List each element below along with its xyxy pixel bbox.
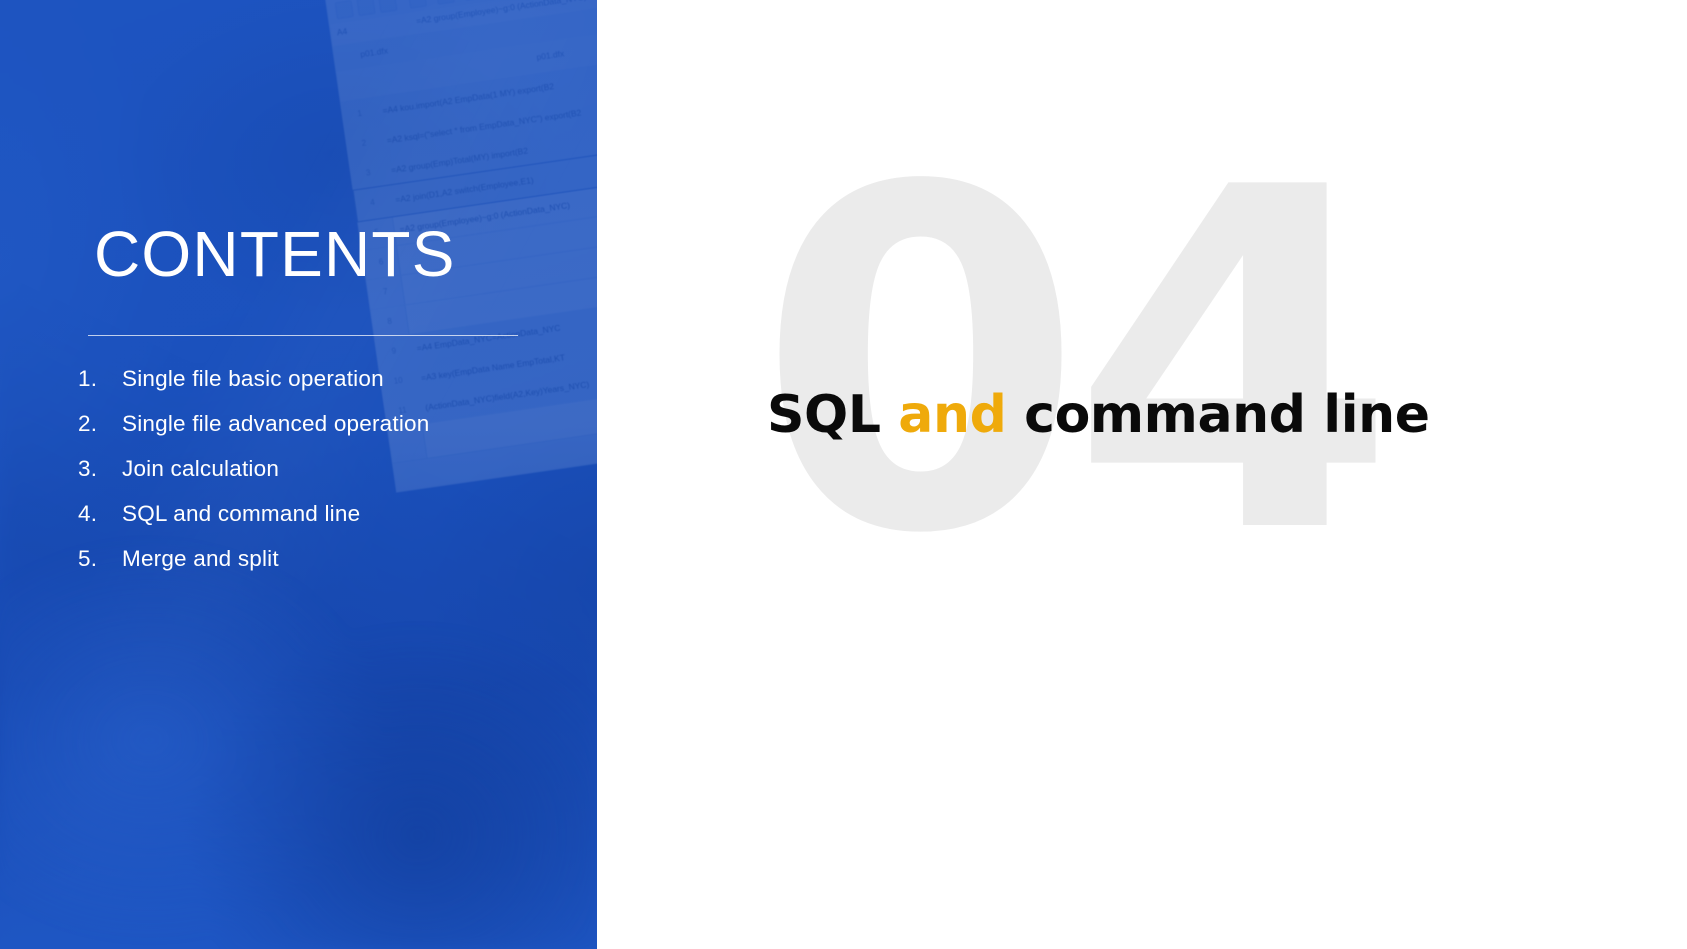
left-panel-content: CONTENTS 1. Single file basic operation … [0,0,597,949]
right-content-area: 04 SQL and command line [597,0,1687,949]
list-item-label: SQL and command line [122,501,360,527]
list-item-number: 4. [78,501,122,527]
left-blue-panel: 文件(F) 编辑(E) 视图(V) 工具(T) 设置(S) 帮助(H) [0,0,597,949]
slide-root: 文件(F) 编辑(E) 视图(V) 工具(T) 设置(S) 帮助(H) [0,0,1687,949]
list-item-number: 3. [78,456,122,482]
list-item-number: 2. [78,411,122,437]
table-of-contents-list: 1. Single file basic operation 2. Single… [78,366,578,591]
section-title-highlight: and [898,385,1006,445]
section-title-part-3: command line [1006,385,1429,445]
section-title: SQL and command line [767,385,1430,445]
list-item-number: 1. [78,366,122,392]
section-number-watermark: 04 [757,128,1383,598]
list-item[interactable]: 2. Single file advanced operation [78,411,578,456]
title-divider [88,335,518,336]
list-item[interactable]: 4. SQL and command line [78,501,578,546]
list-item[interactable]: 1. Single file basic operation [78,366,578,411]
list-item-label: Merge and split [122,546,279,572]
list-item[interactable]: 5. Merge and split [78,546,578,591]
section-title-part-1: SQL [767,385,898,445]
list-item-label: Single file basic operation [122,366,384,392]
list-item-label: Join calculation [122,456,279,482]
list-item-label: Single file advanced operation [122,411,429,437]
list-item-number: 5. [78,546,122,572]
page-title: CONTENTS [94,222,456,286]
list-item[interactable]: 3. Join calculation [78,456,578,501]
